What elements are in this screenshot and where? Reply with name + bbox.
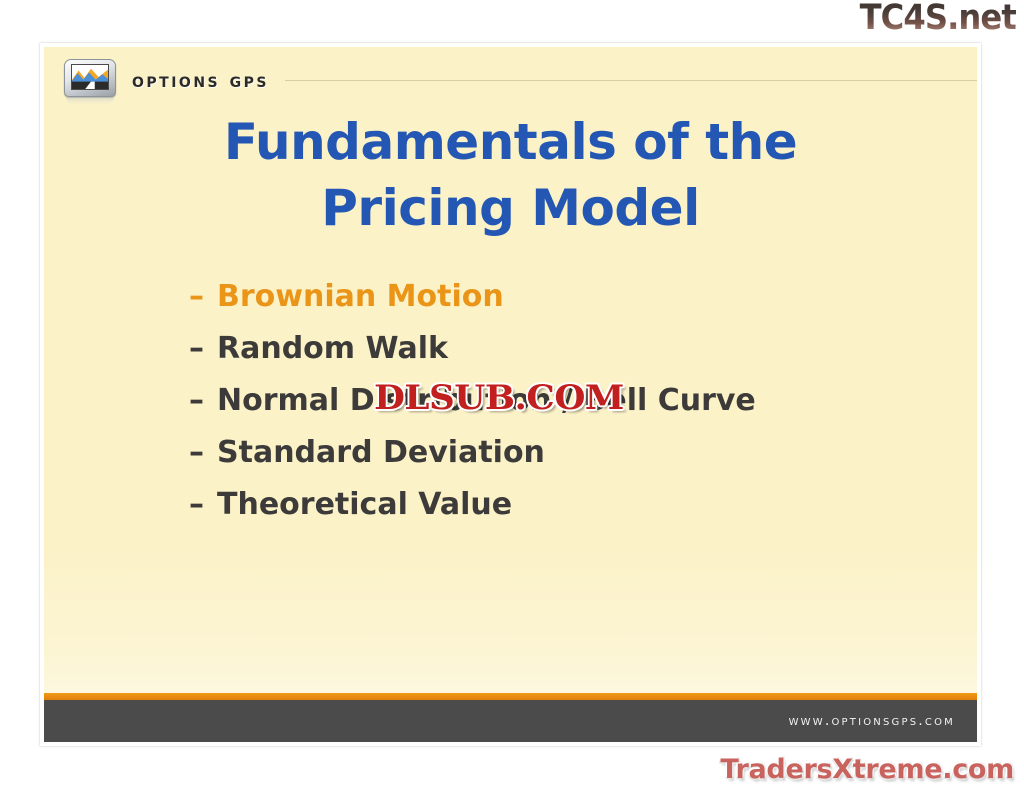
options-gps-wordmark: Options GPS [132, 68, 269, 92]
list-item-label: Standard Deviation [217, 435, 545, 470]
slide-footer: www.OptionsGPS.com [44, 700, 977, 742]
bullet-dash-icon: – [189, 383, 217, 418]
bullet-dash-icon: – [189, 435, 217, 470]
slide-frame: Options GPS Fundamentals of the Pricing … [40, 43, 981, 746]
presentation-slide: Options GPS Fundamentals of the Pricing … [44, 47, 977, 742]
bullet-list: – Brownian Motion – Random Walk – Normal… [189, 279, 909, 539]
list-item: – Standard Deviation [189, 435, 909, 487]
header-divider-rule [285, 80, 977, 81]
gps-device-reflection [66, 97, 114, 104]
slide-header: Options GPS [44, 53, 977, 107]
list-item: – Normal Distribution / Bell Curve [189, 383, 909, 435]
bullet-dash-icon: – [189, 279, 217, 314]
slide-screenshot: TC4S.net [0, 0, 1024, 791]
list-item-label: Theoretical Value [217, 487, 512, 522]
gps-screen-graphic [72, 65, 108, 89]
page-title: Fundamentals of the Pricing Model [44, 109, 977, 241]
bullet-dash-icon: – [189, 487, 217, 522]
tradersxtreme-watermark: TradersXtreme.com [720, 754, 1014, 786]
page-title-line-1: Fundamentals of the [44, 109, 977, 175]
list-item-label: Brownian Motion [217, 279, 504, 314]
footer-orange-stripe [44, 693, 977, 700]
list-item: – Theoretical Value [189, 487, 909, 539]
list-item: – Random Walk [189, 331, 909, 383]
page-title-line-2: Pricing Model [44, 175, 977, 241]
list-item-label: Normal Distribution / Bell Curve [217, 383, 756, 418]
gps-device-icon [62, 58, 118, 102]
list-item: – Brownian Motion [189, 279, 909, 331]
bullet-dash-icon: – [189, 331, 217, 366]
gps-device-screen [71, 64, 109, 90]
tc4s-watermark: TC4S.net [860, 0, 1016, 38]
footer-url-label: www.OptionsGPS.com [789, 713, 955, 729]
list-item-label: Random Walk [217, 331, 448, 366]
